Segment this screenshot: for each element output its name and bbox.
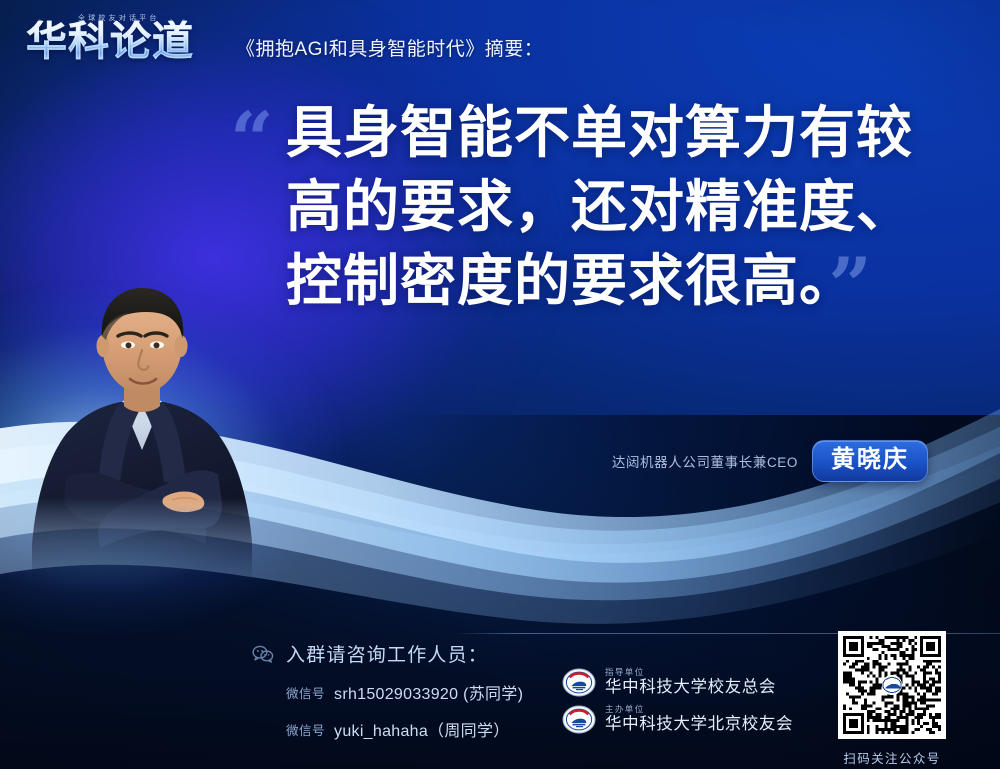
- quote-line-2: 高的要求，还对精准度、: [286, 170, 958, 244]
- qr-code-block: 扫码关注公众号: [833, 631, 951, 767]
- organization-text: 指导单位 华中科技大学校友总会: [605, 668, 776, 696]
- footer-contacts: 入群请咨询工作人员： 微信号 srh15029033920 (苏同学) 微信号 …: [252, 640, 523, 741]
- speaker-name-badge: 黄晓庆: [812, 440, 928, 482]
- contact-label: 微信号: [286, 720, 325, 739]
- contact-label: 微信号: [286, 683, 325, 702]
- poster-canvas: 全球校友对话平台 华科论道 《拥抱AGI和具身智能时代》摘要： “ 具身智能不单…: [0, 0, 1000, 769]
- university-emblem-icon: [562, 668, 596, 697]
- organization-name: 华中科技大学北京校友会: [605, 716, 793, 733]
- quote-open-mark: “: [230, 102, 274, 178]
- page-title: 《拥抱AGI和具身智能时代》摘要：: [236, 34, 543, 64]
- contact-row: 微信号 srh15029033920 (苏同学): [286, 680, 523, 704]
- wechat-icon: [252, 645, 274, 663]
- qr-caption: 扫码关注公众号: [833, 748, 951, 767]
- speaker-portrait: [26, 282, 258, 582]
- quote-block: “ 具身智能不单对算力有较 高的要求，还对精准度、 控制密度的要求很高。 ”: [228, 96, 958, 318]
- qr-code-icon[interactable]: [838, 631, 946, 739]
- footer-heading-row: 入群请咨询工作人员：: [252, 640, 523, 667]
- organization-name: 华中科技大学校友总会: [605, 679, 776, 696]
- quote-line-1: 具身智能不单对算力有较: [286, 96, 958, 170]
- university-emblem-icon: [562, 705, 596, 734]
- contact-row: 微信号 yuki_hahaha（周同学）: [286, 717, 523, 741]
- organization-row: 指导单位 华中科技大学校友总会: [562, 668, 793, 697]
- speaker-attribution: 达闼机器人公司董事长兼CEO 黄晓庆: [612, 440, 928, 482]
- organization-list: 指导单位 华中科技大学校友总会 主办单位 华中科技大学北京校友会: [562, 668, 793, 742]
- contact-value[interactable]: srh15029033920 (苏同学): [334, 680, 523, 704]
- brand-logo[interactable]: 全球校友对话平台 华科论道: [26, 14, 222, 64]
- organization-text: 主办单位 华中科技大学北京校友会: [605, 705, 793, 733]
- footer-heading: 入群请咨询工作人员：: [286, 640, 488, 667]
- speaker-title: 达闼机器人公司董事长兼CEO: [612, 451, 798, 471]
- organization-kind: 指导单位: [605, 668, 776, 677]
- header: 全球校友对话平台 华科论道 《拥抱AGI和具身智能时代》摘要：: [26, 14, 543, 64]
- contact-value[interactable]: yuki_hahaha（周同学）: [334, 717, 510, 741]
- organization-row: 主办单位 华中科技大学北京校友会: [562, 705, 793, 734]
- organization-kind: 主办单位: [605, 705, 793, 714]
- quote-close-mark: ”: [828, 248, 872, 324]
- logo-text: 华科论道: [26, 21, 194, 62]
